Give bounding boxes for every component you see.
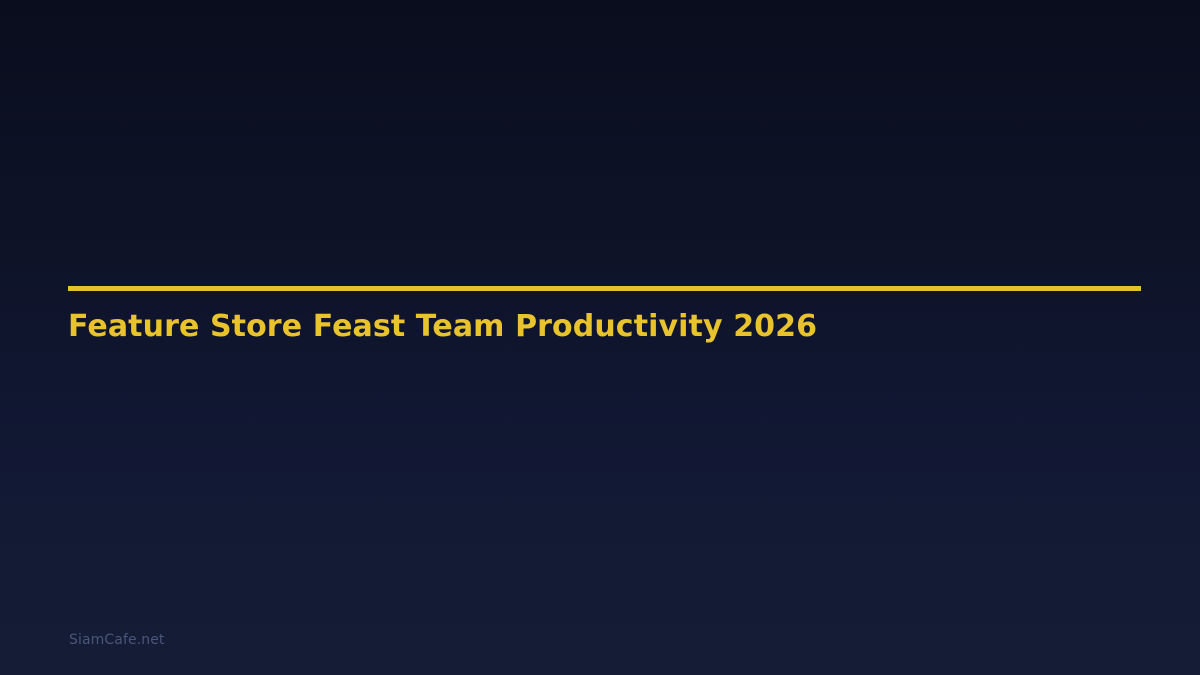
page-title: Feature Store Feast Team Productivity 20… <box>68 308 817 346</box>
footer-brand-label: SiamCafe.net <box>69 631 165 649</box>
accent-rule-divider <box>68 286 1141 291</box>
title-block: Feature Store Feast Team Productivity 20… <box>68 286 1141 291</box>
title-slide: Feature Store Feast Team Productivity 20… <box>0 0 1200 675</box>
